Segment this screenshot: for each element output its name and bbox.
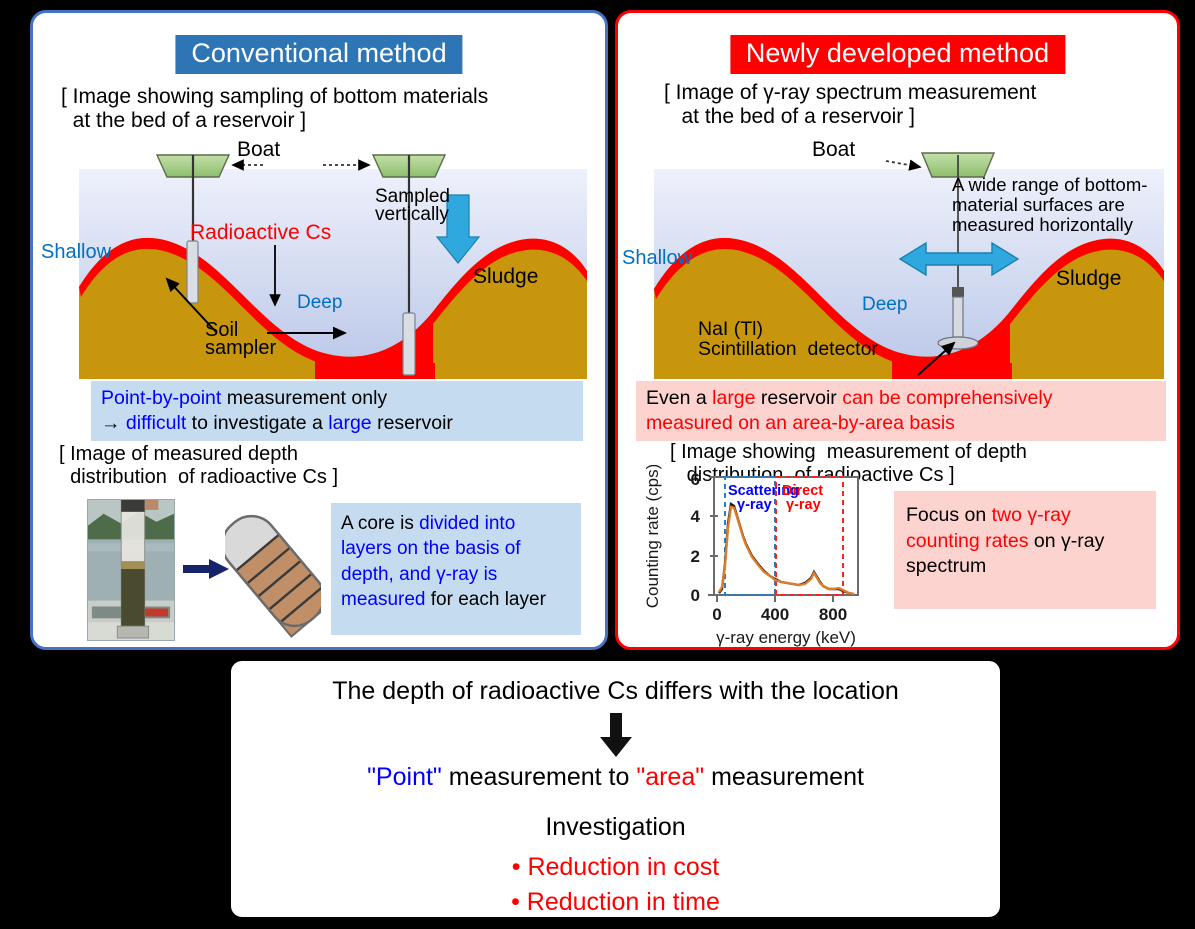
conclusion-line2-seg4: measurement	[704, 763, 864, 791]
soil-sampler-tube-1	[187, 241, 198, 303]
conventional-heading: [ Image showing sampling of bottom mater…	[61, 85, 488, 132]
conventional-heading-line1: [ Image showing sampling of bottom mater…	[61, 85, 488, 108]
new-method-panel: Newly developed method [ Image of γ-ray …	[615, 10, 1180, 650]
detector-label-line2: Scintillation detector	[698, 339, 878, 360]
new-method-callout-box: Even a large reservoir can be comprehens…	[636, 381, 1166, 441]
conclusion-panel: The depth of radioactive Cs differs with…	[228, 658, 1003, 920]
core-box-seg5: measured	[341, 589, 426, 610]
layered-core-diagram	[225, 501, 321, 641]
core-box-seg6: for each layer	[426, 589, 546, 610]
callout-left-seg1: Point-by-point	[101, 387, 221, 409]
core-box-seg2: divided into	[419, 513, 515, 534]
boat-label-left: Boat	[237, 138, 280, 161]
sludge-label-left: Sludge	[473, 265, 538, 288]
svg-text:6: 6	[691, 470, 700, 489]
focus-seg5: spectrum	[906, 555, 986, 577]
sludge-label-right: Sludge	[1056, 267, 1121, 290]
soil-sampler-label-line2: sampler	[205, 337, 276, 359]
new-heading-line1: [ Image of γ-ray spectrum measurement	[664, 81, 1036, 104]
conclusion-line-1: The depth of radioactive Cs differs with…	[231, 677, 1000, 706]
svg-text:γ-ray: γ-ray	[786, 497, 821, 513]
down-arrow-icon	[599, 713, 633, 757]
callout-left-seg6: large	[328, 412, 371, 434]
focus-seg4: on γ-ray	[1029, 530, 1105, 552]
core-layers-explanation-box: A core is divided into layers on the bas…	[331, 503, 581, 635]
callout-left-seg5: to investigate a	[186, 412, 328, 434]
core-box-seg3: layers on the basis of	[341, 538, 521, 559]
conventional-heading-line2: at the bed of a reservoir ]	[61, 109, 306, 132]
radioactive-cs-label: Radioactive Cs	[190, 221, 331, 244]
new-method-title: Newly developed method	[730, 35, 1065, 74]
wide-range-label-line1: A wide range of bottom-	[952, 175, 1147, 195]
callout-left-seg7: reservoir	[372, 412, 453, 434]
svg-text:0: 0	[691, 586, 700, 605]
svg-text:400: 400	[761, 605, 789, 624]
core-box-seg1: A core is	[341, 513, 419, 534]
svg-text:γ-ray: γ-ray	[737, 497, 772, 513]
focus-explanation-box: Focus on two γ-ray counting rates on γ-r…	[894, 491, 1156, 609]
svg-text:800: 800	[819, 605, 847, 624]
core-sampler-photo	[87, 499, 175, 641]
conclusion-line2-seg2: measurement to	[442, 763, 637, 791]
conventional-callout-box: Point-by-point measurement only → diffic…	[91, 381, 583, 441]
conclusion-line-3: Investigation	[231, 813, 1000, 842]
focus-seg3: counting rates	[906, 530, 1029, 552]
conventional-subheading-line2: distribution of radioactive Cs ]	[59, 466, 338, 488]
callout-left-seg4: difficult	[126, 412, 186, 434]
deep-label-right: Deep	[862, 295, 907, 316]
transform-arrow-icon	[183, 557, 229, 581]
svg-text:4: 4	[691, 507, 701, 526]
callout-right-seg5: measured on an area-by-area basis	[646, 412, 955, 434]
conclusion-area-word: "area"	[636, 763, 704, 791]
core-sample-illustration-group	[55, 495, 315, 645]
new-method-cross-section-diagram: Boat A wide range of bottom- material su…	[636, 137, 1164, 379]
callout-right-seg2: large	[712, 387, 755, 409]
wide-range-label-line2: material surfaces are	[952, 195, 1125, 215]
focus-seg2: two γ-ray	[992, 504, 1071, 526]
conclusion-point-word: "Point"	[367, 763, 442, 791]
shallow-label-right: Shallow	[622, 247, 692, 269]
conclusion-bullet-time: • Reduction in time	[231, 888, 1000, 917]
shallow-label-left: Shallow	[41, 241, 111, 263]
callout-right-seg4: can be comprehensively	[842, 387, 1052, 409]
sampled-vertically-label-line2: vertically	[375, 205, 449, 226]
svg-text:0: 0	[712, 605, 721, 624]
new-subheading-line1: [ Image showing measurement of depth	[670, 441, 1027, 463]
conventional-cross-section-diagram: Boat Radioactive Cs Sampled vertically S…	[57, 137, 587, 379]
svg-text:Counting rate (cps): Counting rate (cps)	[643, 465, 662, 608]
focus-seg1: Focus on	[906, 504, 992, 526]
callout-right-seg3: reservoir	[756, 387, 843, 409]
boat-label-right: Boat	[812, 138, 855, 161]
soil-sampler-tube-2	[403, 313, 415, 375]
conventional-method-title: Conventional method	[175, 35, 462, 74]
svg-text:γ-ray energy (keV): γ-ray energy (keV)	[716, 628, 856, 647]
conventional-subheading: [ Image of measured depth distribution o…	[59, 443, 338, 489]
deep-label-left: Deep	[297, 293, 342, 314]
conclusion-line-2: "Point" measurement to "area" measuremen…	[231, 763, 1000, 792]
conventional-method-panel: Conventional method [ Image showing samp…	[30, 10, 608, 650]
core-box-seg4: depth, and γ-ray is	[341, 564, 497, 585]
new-method-heading: [ Image of γ-ray spectrum measurement at…	[664, 81, 1036, 128]
wide-range-label-line3: measured horizontally	[952, 215, 1133, 235]
new-heading-line2: at the bed of a reservoir ]	[664, 105, 915, 128]
callout-left-seg3: →	[101, 412, 126, 434]
callout-left-seg2: measurement only	[221, 387, 387, 409]
gamma-ray-spectrum-chart: 0 2 4 6 0 400 800 γ-ray energy (keV) Cou…	[636, 465, 906, 651]
callout-right-seg1: Even a	[646, 387, 712, 409]
conclusion-bullet-cost: • Reduction in cost	[231, 853, 1000, 882]
conventional-subheading-line1: [ Image of measured depth	[59, 443, 298, 465]
svg-text:2: 2	[691, 547, 700, 566]
